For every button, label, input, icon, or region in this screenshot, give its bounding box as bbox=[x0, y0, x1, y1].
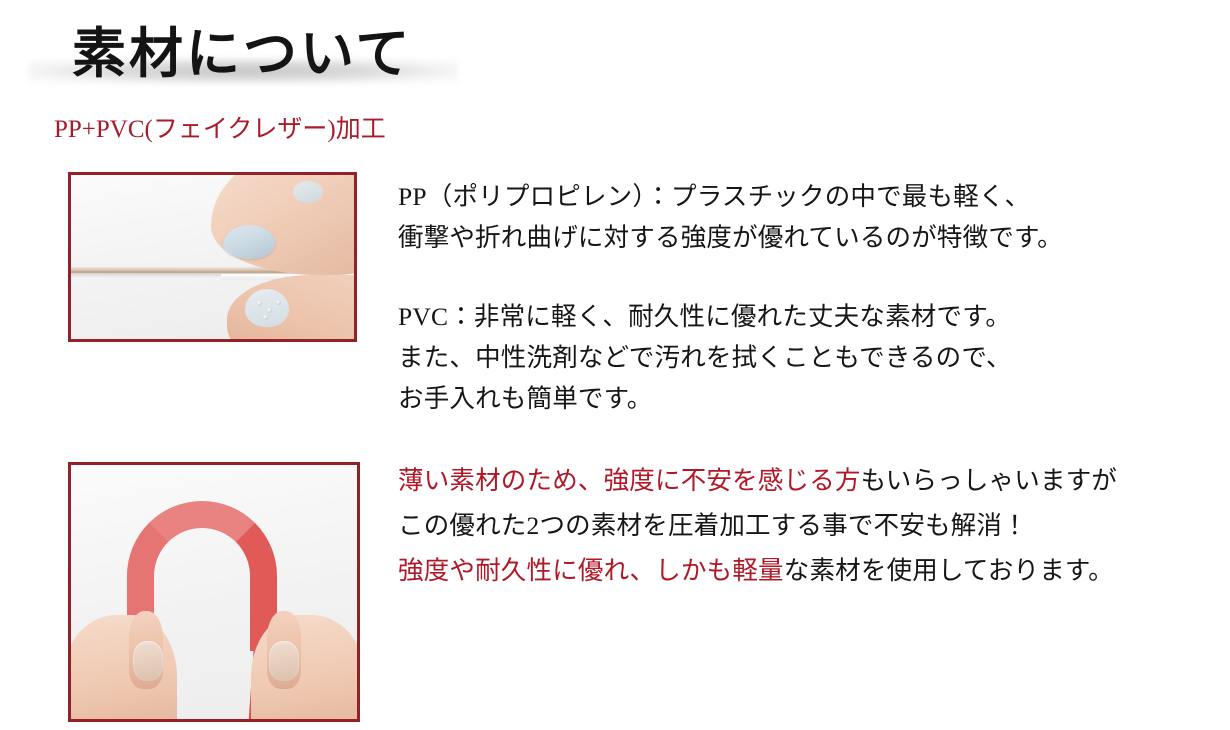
note-line-1-highlight: 薄い素材のため、強度に不安を感じる方 bbox=[398, 466, 861, 495]
note-line-3: 強度や耐久性に優れ、しかも軽量な素材を使用しております。 bbox=[398, 548, 1117, 593]
pvc-line-3: お手入れも簡単です。 bbox=[398, 378, 1012, 419]
nail-gem-icon bbox=[257, 301, 262, 306]
pp-line-2: 衝撃や折れ曲げに対する強度が優れているのが特徴です。 bbox=[398, 217, 1063, 258]
pvc-line-1: PVC：非常に軽く、耐久性に優れた丈夫な素材です。 bbox=[398, 296, 1012, 337]
material-subtitle: PP+PVC(フェイクレザー)加工 bbox=[54, 114, 386, 146]
note-line-3-rest: な素材を使用しております。 bbox=[784, 556, 1114, 585]
note-line-1-rest: もいらっしゃいますが bbox=[861, 466, 1118, 495]
upper-secondary-nail bbox=[293, 181, 323, 203]
note-line-2: この優れた2つの素材を圧着加工する事で不安も解消！ bbox=[398, 503, 1117, 548]
page-title: 素材について bbox=[72, 16, 412, 92]
pvc-line-2: また、中性洗剤などで汚れを拭くこともできるので、 bbox=[398, 337, 1012, 378]
pvc-paragraph: PVC：非常に軽く、耐久性に優れた丈夫な素材です。 また、中性洗剤などで汚れを拭… bbox=[398, 296, 1012, 419]
right-thumbnail bbox=[269, 641, 299, 681]
left-thumbnail bbox=[133, 641, 163, 681]
pp-line-1: PP（ポリプロピレン）：プラスチックの中で最も軽く、 bbox=[398, 176, 1063, 217]
photo-background bbox=[71, 175, 354, 339]
photo-background bbox=[71, 465, 357, 719]
pp-paragraph: PP（ポリプロピレン）：プラスチックの中で最も軽く、 衝撃や折れ曲げに対する強度… bbox=[398, 176, 1063, 258]
upper-hand bbox=[211, 172, 357, 275]
thin-material-edge-photo bbox=[68, 172, 357, 342]
note-line-3-highlight: 強度や耐久性に優れ、しかも軽量 bbox=[398, 556, 784, 585]
nail-gem-icon bbox=[263, 315, 268, 320]
strength-note-paragraph: 薄い素材のため、強度に不安を感じる方もいらっしゃいますが この優れた2つの素材を… bbox=[398, 458, 1117, 593]
note-line-1: 薄い素材のため、強度に不安を感じる方もいらっしゃいますが bbox=[398, 458, 1117, 503]
nail-gem-icon bbox=[267, 308, 272, 313]
nail-gem-icon bbox=[276, 300, 281, 305]
page-header: 素材について bbox=[0, 16, 1230, 94]
upper-fingernail bbox=[223, 225, 275, 259]
bending-material-photo bbox=[68, 462, 360, 722]
